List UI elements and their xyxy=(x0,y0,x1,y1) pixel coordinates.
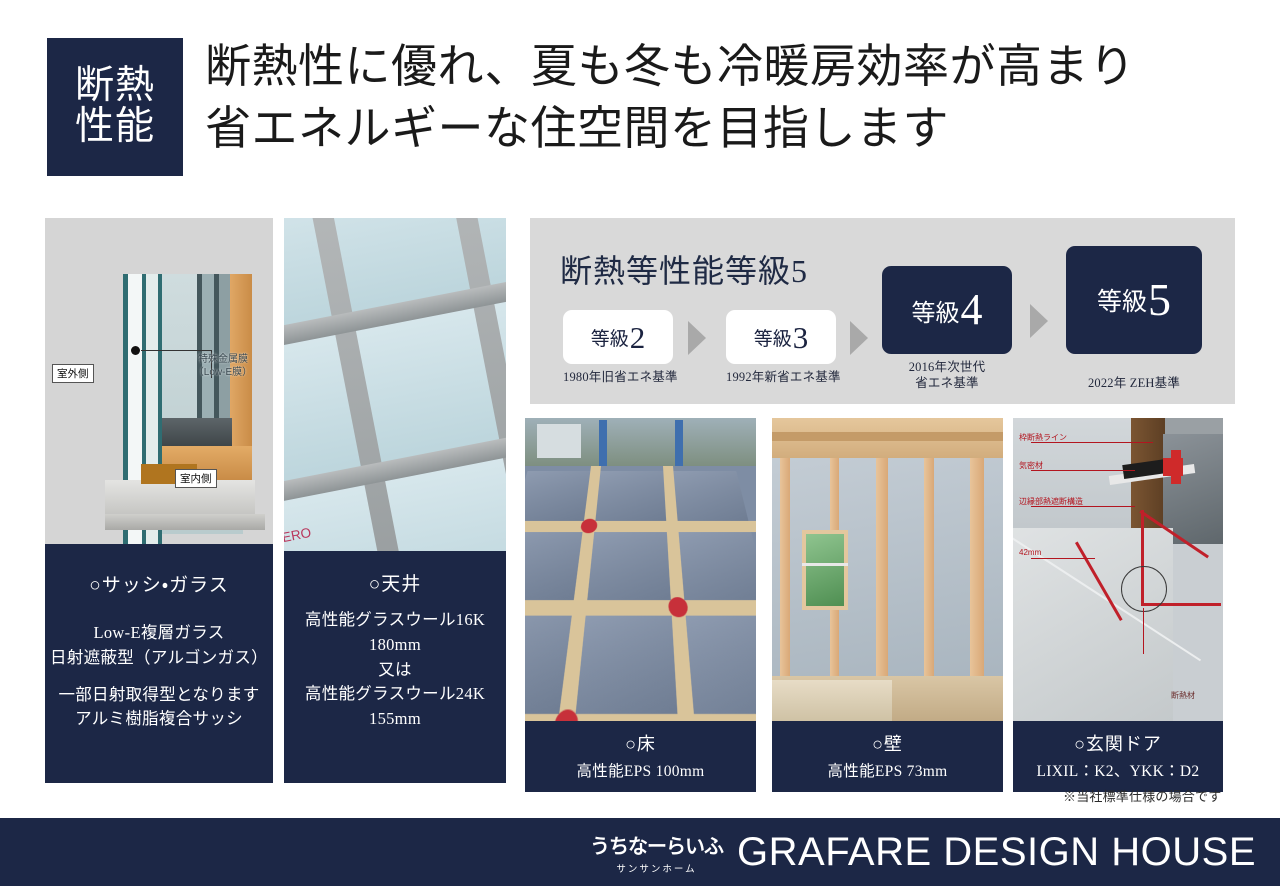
logo-japanese-name: うちなーらいふ xyxy=(590,830,723,859)
grade-arrow-3 xyxy=(1030,304,1048,338)
ceiling-detail-2: 180mm xyxy=(284,633,506,658)
sash-detail-1: Low-E複層ガラス xyxy=(45,621,273,646)
insulation-grade-panel: 断熱等性能等級5 等級2 1980年旧省エネ基準 等級3 1992年新省エネ基準… xyxy=(530,218,1235,404)
door-label-edge-structure: 辺縁部熱遮断構造 xyxy=(1019,496,1083,507)
header: 断熱 性能 断熱性に優れ、夏も冬も冷暖房効率が高まり 省エネルギーな住空間を目指… xyxy=(47,38,1237,178)
grade-caption-3: 1992年新省エネ基準 xyxy=(726,370,836,386)
wall-caption: ○壁 高性能EPS 73mm xyxy=(772,721,1003,792)
ceiling-detail-5: 155mm xyxy=(284,707,506,732)
grade-step-2: 等級2 1980年旧省エネ基準 xyxy=(563,310,673,386)
section-badge: 断熱 性能 xyxy=(47,38,183,176)
grade-chip-3: 等級3 xyxy=(726,310,836,364)
door-label-airtight: 気密材 xyxy=(1019,460,1043,471)
card-door: 枠断熱ライン 気密材 辺縁部熱遮断構造 42mm 断熱材 ○玄関ドア LIXIL… xyxy=(1013,418,1223,792)
door-caption: ○玄関ドア LIXIL：K2、YKK：D2 xyxy=(1013,721,1223,792)
label-low-e-coating: 特殊金属膜 （Low-E膜） xyxy=(175,354,271,379)
logo-uchina-life: うちなーらいふ サンサンホーム xyxy=(590,830,723,875)
wall-insulation-image xyxy=(772,418,1003,721)
door-label-thickness: 42mm xyxy=(1019,548,1041,557)
door-cutaway-image: 枠断熱ライン 気密材 辺縁部熱遮断構造 42mm 断熱材 xyxy=(1013,418,1223,721)
ceiling-title: ○天井 xyxy=(284,569,506,596)
grade-panel-title: 断熱等性能等級5 xyxy=(560,246,808,292)
card-wall: ○壁 高性能EPS 73mm xyxy=(772,418,1003,792)
standard-spec-note: ※当社標準仕様の場合です xyxy=(1063,786,1221,805)
door-label-frame-line: 枠断熱ライン xyxy=(1019,432,1067,443)
grade-step-4: 等級4 2016年次世代 省エネ基準 xyxy=(882,266,1012,391)
infographic-page: 断熱 性能 断熱性に優れ、夏も冬も冷暖房効率が高まり 省エネルギーな住空間を目指… xyxy=(0,0,1280,886)
ceiling-caption: ○天井 高性能グラスウール16K 180mm 又は 高性能グラスウール24K 1… xyxy=(284,551,506,732)
door-title: ○玄関ドア xyxy=(1013,730,1223,756)
grade-caption-5: 2022年 ZEH基準 xyxy=(1066,376,1202,392)
floor-insulation-image xyxy=(525,418,756,721)
headline-line-1: 断熱性に優れ、夏も冬も冷暖房効率が高まり xyxy=(205,36,1235,98)
ceiling-detail-1: 高性能グラスウール16K xyxy=(284,608,506,633)
wall-detail: 高性能EPS 73mm xyxy=(772,759,1003,781)
grade-arrow-1 xyxy=(688,321,706,355)
sash-title: ○サッシ・ガラス xyxy=(45,570,273,597)
grade-step-5: 等級5 2022年 ZEH基準 xyxy=(1066,246,1202,392)
ceiling-insulation-image: ZERO ASPIACO ZERO xyxy=(284,218,506,551)
brand-name: GRAFARE DESIGN HOUSE xyxy=(737,830,1256,875)
grade-caption-4-line2: 省エネ基準 xyxy=(882,376,1012,392)
wall-title: ○壁 xyxy=(772,730,1003,756)
card-sash-glass: 室外側 特殊金属膜 （Low-E膜） 室内側 ○サッシ・ガラス Low-E複層ガ… xyxy=(45,218,273,783)
grade-caption-4-line1: 2016年次世代 xyxy=(882,360,1012,376)
badge-line-1: 断熱 xyxy=(75,66,155,107)
floor-detail: 高性能EPS 100mm xyxy=(525,759,756,781)
label-outdoor: 室外側 xyxy=(52,364,94,383)
sash-detail-4: アルミ樹脂複合サッシ xyxy=(45,707,273,732)
footer-bar: うちなーらいふ サンサンホーム GRAFARE DESIGN HOUSE xyxy=(0,818,1280,886)
grade-chip-5: 等級5 xyxy=(1066,246,1202,354)
sash-detail-3: 一部日射取得型となります xyxy=(45,683,273,708)
ceiling-detail-4: 高性能グラスウール24K xyxy=(284,682,506,707)
floor-caption: ○床 高性能EPS 100mm xyxy=(525,721,756,792)
door-label-insulation: 断熱材 xyxy=(1171,690,1195,701)
card-floor: ○床 高性能EPS 100mm xyxy=(525,418,756,792)
sash-cutaway-image: 室外側 特殊金属膜 （Low-E膜） 室内側 xyxy=(45,218,273,544)
grade-caption-2: 1980年旧省エネ基準 xyxy=(563,370,673,386)
logo-kana-name: サンサンホーム xyxy=(590,861,723,875)
card-ceiling: ZERO ASPIACO ZERO ○天井 高性能グラスウール16K 180mm… xyxy=(284,218,506,783)
grade-chip-4: 等級4 xyxy=(882,266,1012,354)
grade-chip-2: 等級2 xyxy=(563,310,673,364)
sash-caption: ○サッシ・ガラス Low-E複層ガラス 日射遮蔽型（アルゴンガス） 一部日射取得… xyxy=(45,544,273,732)
headline-line-2: 省エネルギーな住空間を目指します xyxy=(205,98,1235,160)
sash-detail-2: 日射遮蔽型（アルゴンガス） xyxy=(45,646,273,671)
grade-step-3: 等級3 1992年新省エネ基準 xyxy=(726,310,836,386)
badge-line-2: 性能 xyxy=(75,107,155,148)
door-detail: LIXIL：K2、YKK：D2 xyxy=(1013,759,1223,781)
page-title: 断熱性に優れ、夏も冬も冷暖房効率が高まり 省エネルギーな住空間を目指します xyxy=(205,36,1235,159)
floor-title: ○床 xyxy=(525,730,756,756)
grade-arrow-2 xyxy=(850,321,868,355)
label-indoor: 室内側 xyxy=(175,469,217,488)
ceiling-detail-3: 又は xyxy=(284,658,506,683)
